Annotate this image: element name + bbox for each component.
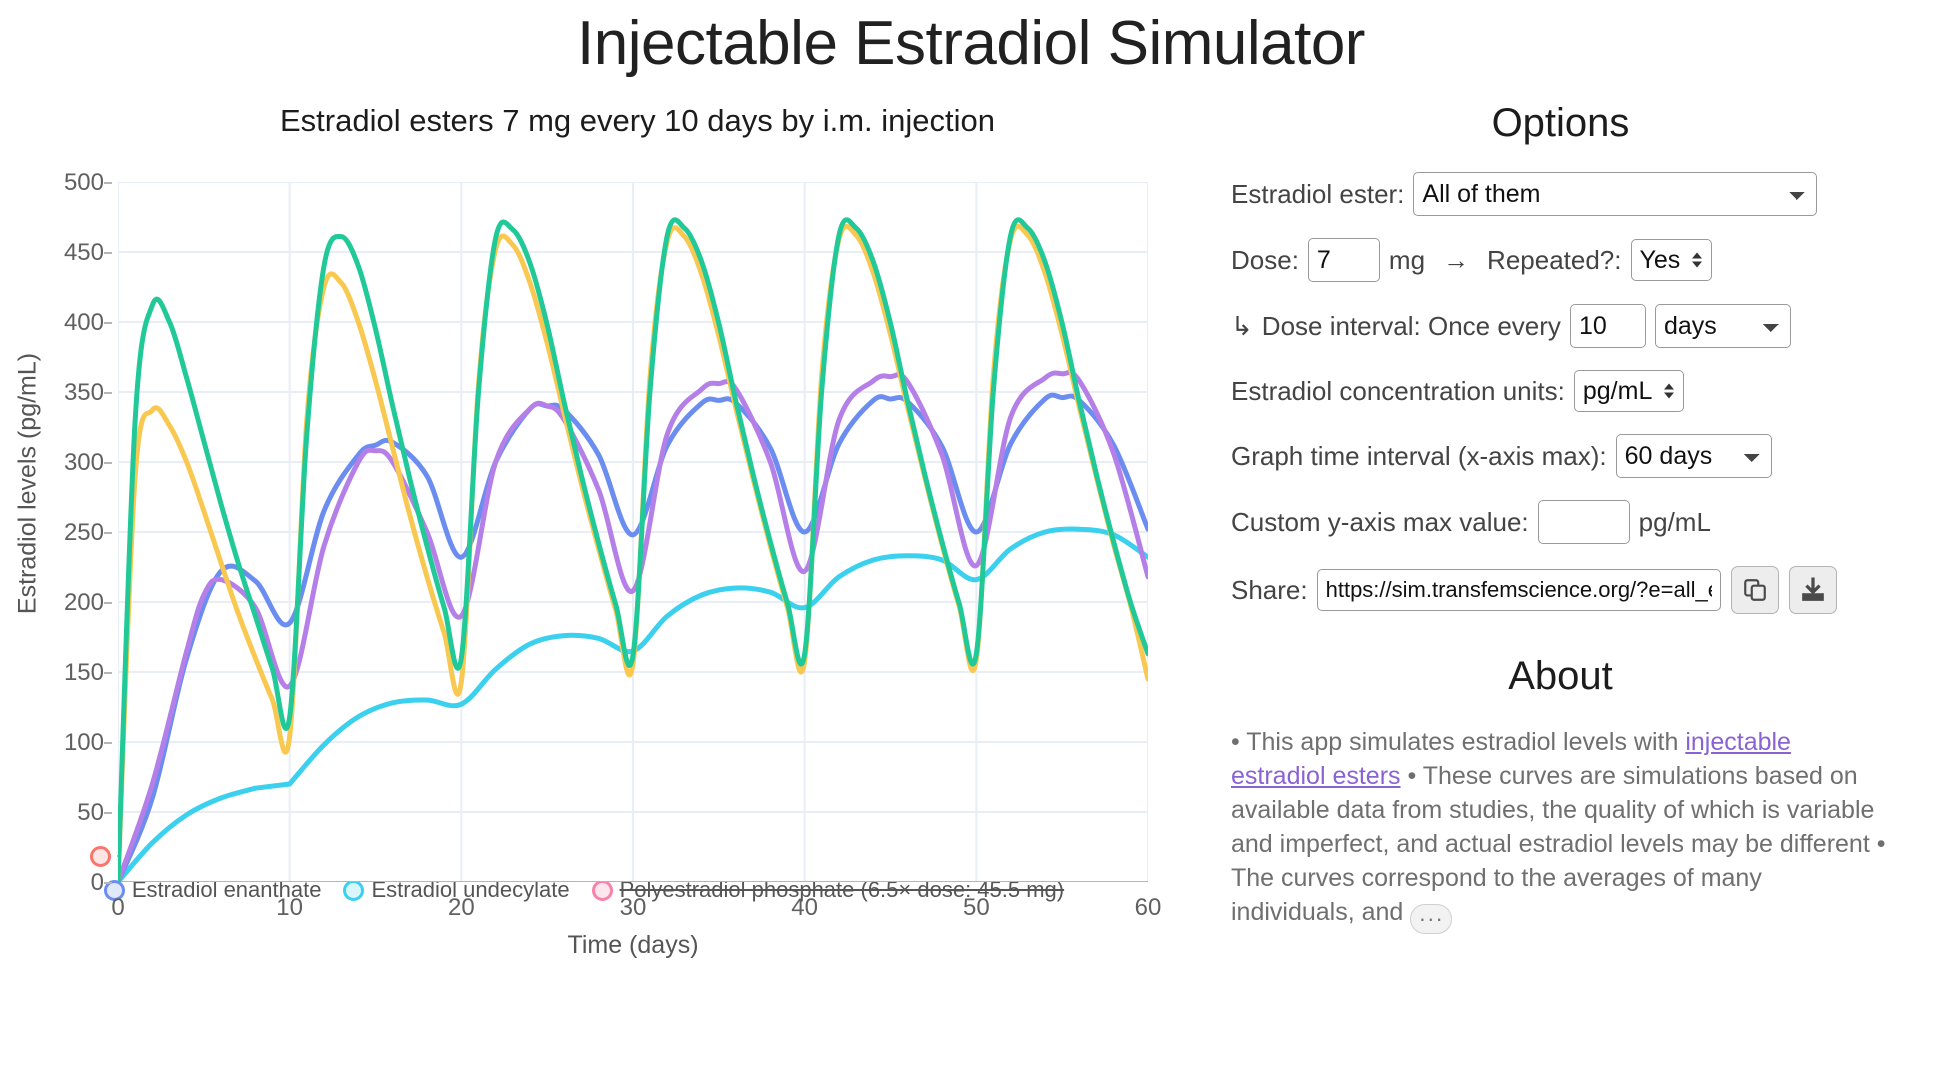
y-tick-label: 0 xyxy=(34,869,104,897)
about-part1: • This app simulates estradiol levels wi… xyxy=(1231,728,1685,756)
dose-label: Dose: xyxy=(1231,245,1299,276)
y-tick-mark xyxy=(104,322,112,324)
y-tick-label: 50 xyxy=(34,799,104,827)
plot-area[interactable] xyxy=(118,182,1148,882)
units-select-wrap: pg/mL xyxy=(1574,370,1684,412)
y-tick-mark xyxy=(104,532,112,534)
app-root: Injectable Estradiol Simulator Estradiol… xyxy=(0,0,1942,1085)
y-tick-label: 400 xyxy=(34,309,104,337)
x-tick-label: 30 xyxy=(620,894,647,922)
dose-unit: mg xyxy=(1389,245,1425,276)
interval-input[interactable] xyxy=(1570,304,1646,348)
repeated-label: Repeated?: xyxy=(1487,245,1621,276)
dose-arrow-icon: → xyxy=(1443,245,1469,276)
x-tick-label: 40 xyxy=(791,894,818,922)
option-row-ymax: Custom y-axis max value: pg/mL xyxy=(1215,500,1906,544)
chart-container: Estradiol levels (pg/mL) 050100150200250… xyxy=(0,139,1215,839)
y-axis-ticks: 050100150200250300350400450500 xyxy=(0,182,104,882)
option-row-units: Estradiol concentration units: pg/mL xyxy=(1215,370,1906,412)
download-icon xyxy=(1800,577,1826,603)
options-column: Options Estradiol ester: All of them Dos… xyxy=(1215,79,1942,934)
chart-title: Estradiol esters 7 mg every 10 days by i… xyxy=(0,103,1215,139)
share-url-input[interactable] xyxy=(1317,569,1721,611)
interval-arrow-icon: ↳ xyxy=(1231,311,1253,342)
y-tick-label: 450 xyxy=(34,239,104,267)
ester-select[interactable]: All of them xyxy=(1413,172,1817,216)
y-tick-mark xyxy=(104,182,112,184)
y-tick-label: 500 xyxy=(34,169,104,197)
y-tick-label: 200 xyxy=(34,589,104,617)
about-heading: About xyxy=(1215,654,1906,699)
ymax-label: Custom y-axis max value: xyxy=(1231,507,1529,538)
option-row-share: Share: xyxy=(1215,566,1906,614)
y-tick-mark xyxy=(104,252,112,254)
x-axis-label: Time (days) xyxy=(118,931,1148,960)
y-tick-label: 100 xyxy=(34,729,104,757)
units-select[interactable]: pg/mL xyxy=(1574,370,1684,412)
y-tick-mark xyxy=(104,742,112,744)
dose-input[interactable] xyxy=(1308,238,1380,282)
options-heading: Options xyxy=(1215,101,1906,146)
y-tick-label: 150 xyxy=(34,659,104,687)
download-button[interactable] xyxy=(1789,566,1837,614)
x-tick-label: 50 xyxy=(963,894,990,922)
repeated-select-wrap: Yes xyxy=(1631,239,1712,281)
time-interval-label: Graph time interval (x-axis max): xyxy=(1231,441,1607,472)
y-tick-mark xyxy=(104,462,112,464)
ymax-input[interactable] xyxy=(1538,500,1630,544)
about-more-button[interactable]: ··· xyxy=(1410,904,1452,934)
chart-column: Estradiol esters 7 mg every 10 days by i… xyxy=(0,79,1215,934)
share-label: Share: xyxy=(1231,575,1308,606)
ymax-unit: pg/mL xyxy=(1639,507,1711,538)
y-tick-mark xyxy=(104,602,112,604)
y-tick-label: 300 xyxy=(34,449,104,477)
interval-label: Dose interval: Once every xyxy=(1262,311,1561,342)
option-row-time-interval: Graph time interval (x-axis max): 60 day… xyxy=(1215,434,1906,478)
interval-unit-select[interactable]: days xyxy=(1655,304,1791,348)
time-interval-select[interactable]: 60 days xyxy=(1616,434,1772,478)
about-text: • This app simulates estradiol levels wi… xyxy=(1215,725,1906,934)
copy-icon xyxy=(1742,577,1768,603)
x-tick-label: 0 xyxy=(111,894,124,922)
x-tick-label: 10 xyxy=(276,894,303,922)
page-title: Injectable Estradiol Simulator xyxy=(0,0,1942,79)
ester-label: Estradiol ester: xyxy=(1231,179,1404,210)
y-tick-mark xyxy=(104,392,112,394)
copy-button[interactable] xyxy=(1731,566,1779,614)
option-row-dose: Dose: mg → Repeated?: Yes xyxy=(1215,238,1906,282)
y-tick-mark xyxy=(104,882,112,884)
repeated-select[interactable]: Yes xyxy=(1631,239,1712,281)
option-row-interval: ↳ Dose interval: Once every days xyxy=(1215,304,1906,348)
y-tick-label: 250 xyxy=(34,519,104,547)
main-columns: Estradiol esters 7 mg every 10 days by i… xyxy=(0,79,1942,934)
x-tick-label: 20 xyxy=(448,894,475,922)
units-label: Estradiol concentration units: xyxy=(1231,376,1565,407)
y-tick-label: 350 xyxy=(34,379,104,407)
x-tick-label: 60 xyxy=(1135,894,1162,922)
x-axis-ticks: 0102030405060 xyxy=(118,886,1148,926)
y-tick-mark xyxy=(104,812,112,814)
option-row-ester: Estradiol ester: All of them xyxy=(1215,172,1906,216)
y-tick-mark xyxy=(104,672,112,674)
